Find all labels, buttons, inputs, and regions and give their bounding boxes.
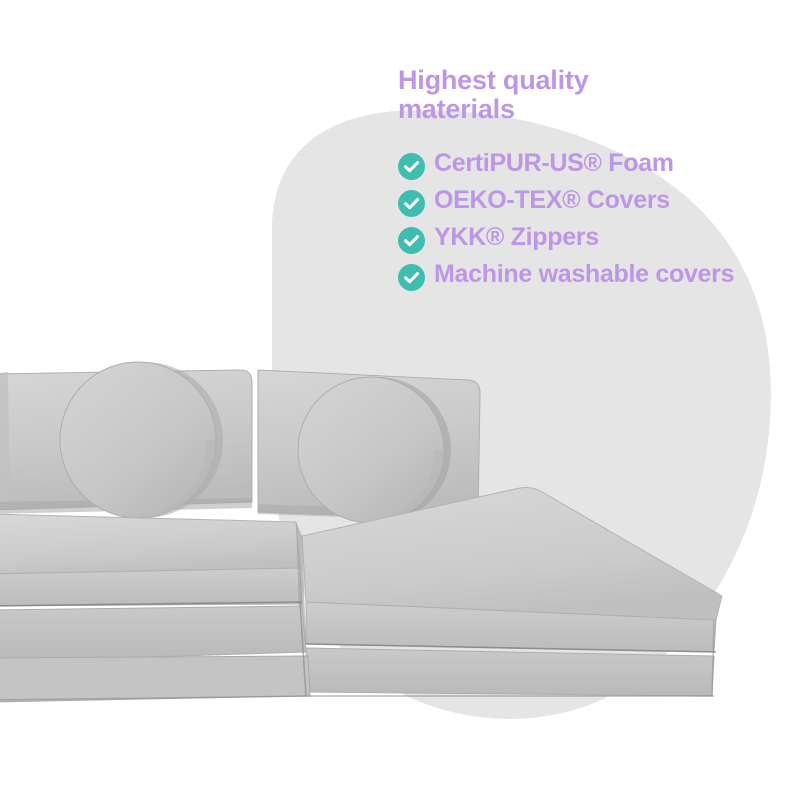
feature-label: Machine washable covers (434, 261, 734, 289)
check-circle-icon (398, 264, 425, 291)
feature-label: CertiPUR-US® Foam (434, 150, 674, 178)
feature-callout: Highest quality materials CertiPUR-US® F… (398, 66, 794, 298)
page-title: Highest quality materials (398, 66, 678, 124)
check-circle-icon (398, 153, 425, 180)
list-item: CertiPUR-US® Foam (398, 150, 794, 180)
list-item: OEKO-TEX® Covers (398, 187, 794, 217)
list-item: YKK® Zippers (398, 224, 794, 254)
check-circle-icon (398, 227, 425, 254)
modular-play-couch-photo (0, 352, 800, 712)
feature-list: CertiPUR-US® Foam OEKO-TEX® Covers YKK® … (398, 150, 794, 291)
feature-label: OEKO-TEX® Covers (434, 187, 670, 215)
check-circle-icon (398, 190, 425, 217)
promo-graphic: Highest quality materials CertiPUR-US® F… (0, 0, 800, 800)
list-item: Machine washable covers (398, 261, 794, 291)
feature-label: YKK® Zippers (434, 224, 599, 252)
